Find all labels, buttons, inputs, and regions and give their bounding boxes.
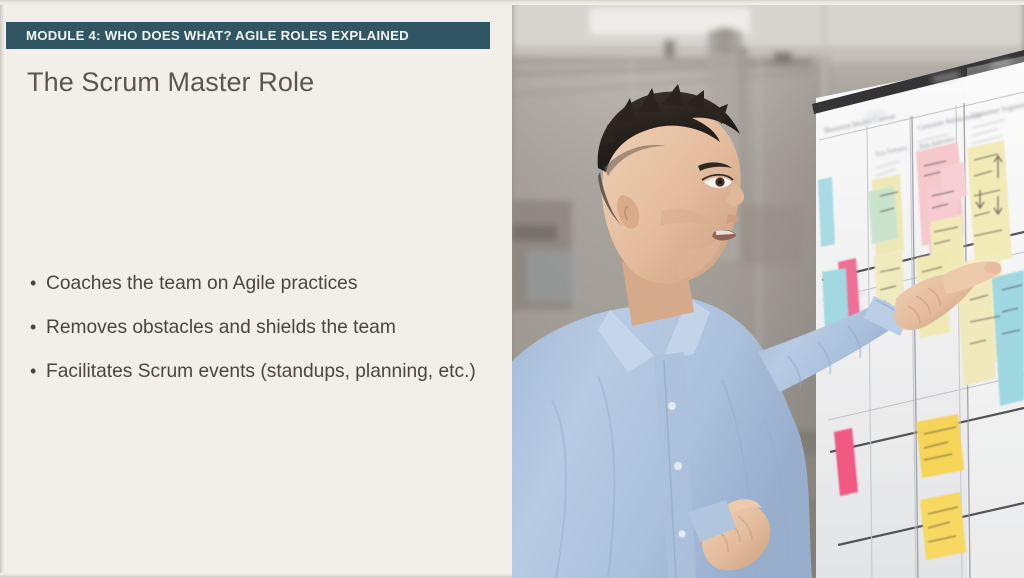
- list-item: • Coaches the team on Agile practices: [30, 268, 492, 299]
- photo-illustration: Business Model Canvas Key Partners Key A…: [512, 0, 1024, 578]
- bullet-text: Removes obstacles and shields the team: [46, 312, 492, 343]
- presentation-slide: MODULE 4: WHO DOES WHAT? AGILE ROLES EXP…: [0, 0, 1024, 578]
- bullet-text: Coaches the team on Agile practices: [46, 268, 492, 299]
- bullet-marker-icon: •: [30, 268, 46, 299]
- module-banner: MODULE 4: WHO DOES WHAT? AGILE ROLES EXP…: [6, 22, 490, 49]
- bullet-text: Facilitates Scrum events (standups, plan…: [46, 356, 492, 387]
- slide-photo: Business Model Canvas Key Partners Key A…: [512, 0, 1024, 578]
- slide-title: The Scrum Master Role: [27, 67, 314, 98]
- module-banner-label: MODULE 4: WHO DOES WHAT? AGILE ROLES EXP…: [6, 28, 409, 43]
- slide-text-panel: MODULE 4: WHO DOES WHAT? AGILE ROLES EXP…: [0, 0, 512, 578]
- bullet-marker-icon: •: [30, 356, 46, 387]
- list-item: • Removes obstacles and shields the team: [30, 312, 492, 343]
- bullet-marker-icon: •: [30, 312, 46, 343]
- bullet-list: • Coaches the team on Agile practices • …: [30, 268, 492, 400]
- list-item: • Facilitates Scrum events (standups, pl…: [30, 356, 492, 387]
